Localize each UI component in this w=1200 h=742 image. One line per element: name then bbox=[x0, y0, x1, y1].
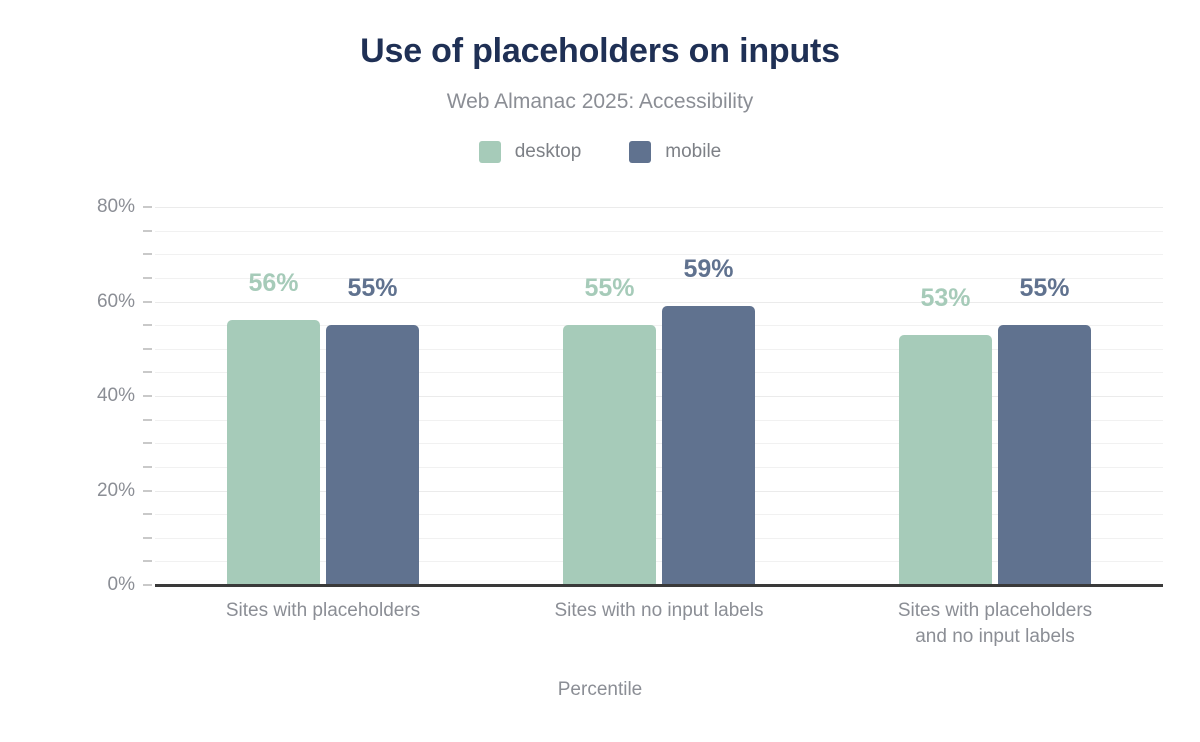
y-axis-tick-mark bbox=[143, 442, 152, 444]
chart-legend: desktop mobile bbox=[0, 141, 1200, 163]
y-axis-tick-label: 80% bbox=[7, 196, 135, 218]
legend-swatch-mobile bbox=[629, 141, 651, 163]
x-axis-category-label: Sites with placeholders and no input lab… bbox=[898, 598, 1092, 650]
y-axis-tick-mark bbox=[143, 419, 152, 421]
bar-desktop-1[interactable] bbox=[563, 325, 656, 585]
chart-figure: Use of placeholders on inputs Web Almana… bbox=[0, 0, 1200, 742]
bar-desktop-0[interactable] bbox=[227, 320, 320, 585]
y-axis-tick-mark bbox=[143, 513, 152, 515]
legend-label-mobile: mobile bbox=[665, 141, 721, 163]
y-axis-tick-label: 0% bbox=[7, 574, 135, 596]
bar-value-label: 55% bbox=[584, 274, 634, 303]
bar-desktop-2[interactable] bbox=[899, 335, 992, 585]
y-axis-tick-mark bbox=[143, 230, 152, 232]
y-axis-tick-mark bbox=[143, 371, 152, 373]
x-axis-category-label: Sites with placeholders bbox=[226, 598, 420, 624]
x-axis-title: Percentile bbox=[0, 679, 1200, 701]
chart-subtitle: Web Almanac 2025: Accessibility bbox=[0, 90, 1200, 114]
y-axis-tick-label: 20% bbox=[7, 480, 135, 502]
y-axis-tick-mark bbox=[143, 348, 152, 350]
y-axis-tick-mark bbox=[143, 584, 152, 586]
legend-item-mobile[interactable]: mobile bbox=[629, 141, 721, 163]
plot-area: 0%20%40%60%80% 56%55%55%59%53%55% bbox=[155, 207, 1163, 585]
bar-value-label: 56% bbox=[248, 269, 298, 298]
y-axis-tick-mark bbox=[143, 277, 152, 279]
legend-swatch-desktop bbox=[479, 141, 501, 163]
chart-title: Use of placeholders on inputs bbox=[0, 32, 1200, 71]
y-axis-tick-label: 60% bbox=[7, 291, 135, 313]
y-axis-tick-mark bbox=[143, 253, 152, 255]
bar-value-label: 59% bbox=[683, 255, 733, 284]
bar-value-label: 55% bbox=[347, 274, 397, 303]
y-axis-tick-mark bbox=[143, 490, 152, 492]
x-axis-line bbox=[155, 584, 1163, 587]
y-axis-tick-mark bbox=[143, 301, 152, 303]
y-axis-tick-mark bbox=[143, 324, 152, 326]
bar-mobile-1[interactable] bbox=[662, 306, 755, 585]
bar-value-label: 55% bbox=[1019, 274, 1069, 303]
legend-item-desktop[interactable]: desktop bbox=[479, 141, 582, 163]
bar-mobile-2[interactable] bbox=[998, 325, 1091, 585]
y-axis-tick-mark bbox=[143, 206, 152, 208]
legend-label-desktop: desktop bbox=[515, 141, 582, 163]
x-axis-category-label: Sites with no input labels bbox=[554, 598, 763, 624]
y-axis-tick-mark bbox=[143, 560, 152, 562]
y-axis-tick-mark bbox=[143, 537, 152, 539]
y-axis-tick-label: 40% bbox=[7, 385, 135, 407]
bar-value-label: 53% bbox=[920, 284, 970, 313]
bar-mobile-0[interactable] bbox=[326, 325, 419, 585]
bar-series-group: 56%55%55%59%53%55% bbox=[155, 207, 1163, 585]
y-axis-tick-mark bbox=[143, 466, 152, 468]
y-axis-tick-mark bbox=[143, 395, 152, 397]
